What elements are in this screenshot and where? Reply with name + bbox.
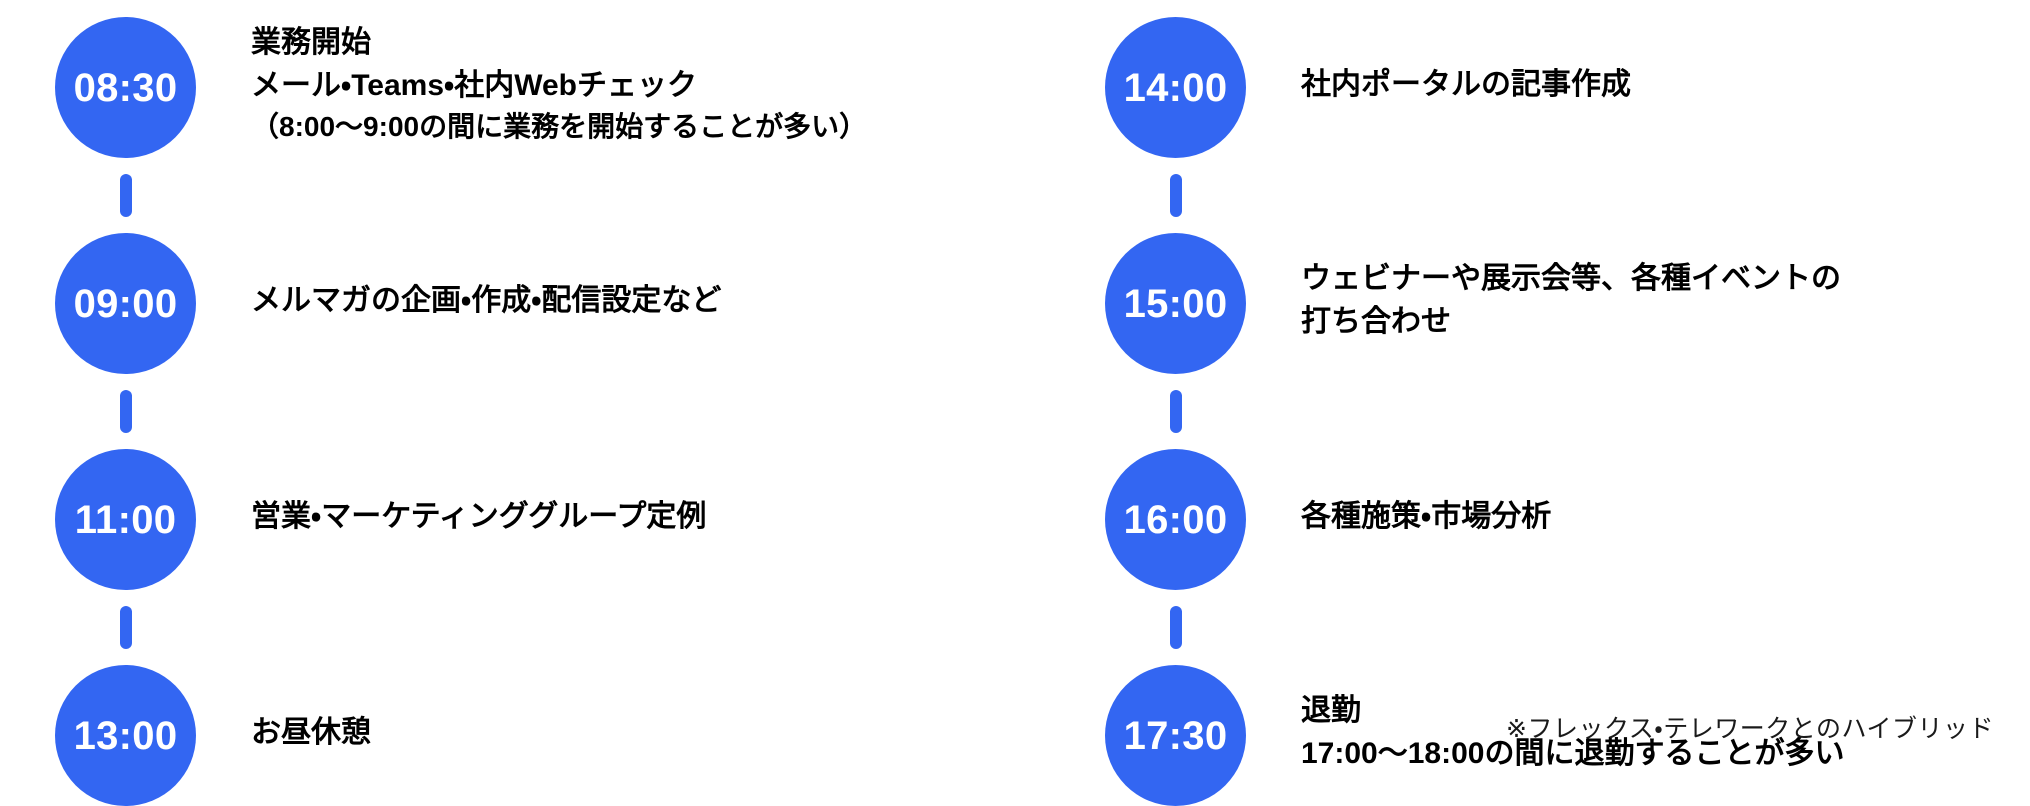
timeline-node: 13:00 xyxy=(55,665,196,806)
connector-dash xyxy=(1170,606,1182,649)
timeline-item: 15:00 ウェビナーや展示会等、各種イベントの 打ち合わせ xyxy=(1105,233,2030,449)
timeline-item-body: 業務開始 メール・Teams・社内Webチェック （8:00〜9:00の間に業務… xyxy=(196,17,1075,147)
timeline-item-body: お昼休憩 xyxy=(196,665,1075,755)
timeline-node: 16:00 xyxy=(1105,449,1246,665)
timeline-item-line: お昼休憩 xyxy=(251,712,1075,755)
time-bubble: 08:30 xyxy=(55,17,196,158)
timeline-node: 14:00 xyxy=(1105,17,1246,233)
time-bubble: 15:00 xyxy=(1105,233,1246,374)
connector-dash xyxy=(1170,174,1182,217)
time-label: 09:00 xyxy=(74,284,178,324)
timeline-item: 16:00 各種施策・市場分析 xyxy=(1105,449,2030,665)
timeline-item-body: 営業・マーケティンググループ定例 xyxy=(196,449,1075,539)
timeline-item-line: メール・Teams・社内Webチェック xyxy=(251,65,1075,108)
timeline-item-line: ウェビナーや展示会等、各種イベントの xyxy=(1301,258,2030,301)
time-label: 16:00 xyxy=(1124,500,1228,540)
timeline-item: 13:00 お昼休憩 xyxy=(55,665,1075,806)
time-bubble: 17:30 xyxy=(1105,665,1246,806)
timeline-item: 09:00 メルマガの企画・作成・配信設定など xyxy=(55,233,1075,449)
timeline-item: 11:00 営業・マーケティンググループ定例 xyxy=(55,449,1075,665)
time-label: 14:00 xyxy=(1124,68,1228,108)
time-label: 17:30 xyxy=(1124,716,1228,756)
time-bubble: 09:00 xyxy=(55,233,196,374)
timeline-item-body: ウェビナーや展示会等、各種イベントの 打ち合わせ xyxy=(1246,233,2030,343)
timeline-item: 14:00 社内ポータルの記事作成 xyxy=(1105,17,2030,233)
timeline-node: 15:00 xyxy=(1105,233,1246,449)
timeline-item-note: （8:00〜9:00の間に業務を開始することが多い） xyxy=(251,107,1075,147)
time-label: 13:00 xyxy=(74,716,178,756)
timeline-item-line: 各種施策・市場分析 xyxy=(1301,496,2030,539)
timeline-item: 08:30 業務開始 メール・Teams・社内Webチェック （8:00〜9:0… xyxy=(55,17,1075,233)
timeline-columns: 08:30 業務開始 メール・Teams・社内Webチェック （8:00〜9:0… xyxy=(0,0,2030,700)
time-label: 11:00 xyxy=(75,500,177,540)
timeline-node: 09:00 xyxy=(55,233,196,449)
timeline-item-body: 社内ポータルの記事作成 xyxy=(1246,17,2030,107)
connector-dash xyxy=(120,174,132,217)
connector-dash xyxy=(1170,390,1182,433)
timeline-item-body: メルマガの企画・作成・配信設定など xyxy=(196,233,1075,323)
timeline-item-line: 営業・マーケティンググループ定例 xyxy=(251,496,1075,539)
timeline-item-line: 社内ポータルの記事作成 xyxy=(1301,64,2030,107)
connector-dash xyxy=(120,390,132,433)
footnote-text: ※フレックス・テレワークとのハイブリッド xyxy=(1506,709,1994,745)
time-bubble: 16:00 xyxy=(1105,449,1246,590)
timeline-diagram: 08:30 業務開始 メール・Teams・社内Webチェック （8:00〜9:0… xyxy=(0,0,2030,763)
time-bubble: 11:00 xyxy=(55,449,196,590)
timeline-node: 08:30 xyxy=(55,17,196,233)
timeline-node: 11:00 xyxy=(55,449,196,665)
time-bubble: 14:00 xyxy=(1105,17,1246,158)
timeline-column-afternoon: 14:00 社内ポータルの記事作成 15:00 ウェビナーや展示会等、各種 xyxy=(1075,0,2030,700)
timeline-column-morning: 08:30 業務開始 メール・Teams・社内Webチェック （8:00〜9:0… xyxy=(0,0,1075,700)
time-label: 15:00 xyxy=(1124,284,1228,324)
connector-dash xyxy=(120,606,132,649)
timeline-item-line: 打ち合わせ xyxy=(1301,301,2030,344)
timeline-item-body: 各種施策・市場分析 xyxy=(1246,449,2030,539)
timeline-node: 17:30 xyxy=(1105,665,1246,806)
timeline-item-line: 業務開始 xyxy=(251,22,1075,65)
time-bubble: 13:00 xyxy=(55,665,196,806)
timeline-item-line: メルマガの企画・作成・配信設定など xyxy=(251,280,1075,323)
time-label: 08:30 xyxy=(74,68,178,108)
